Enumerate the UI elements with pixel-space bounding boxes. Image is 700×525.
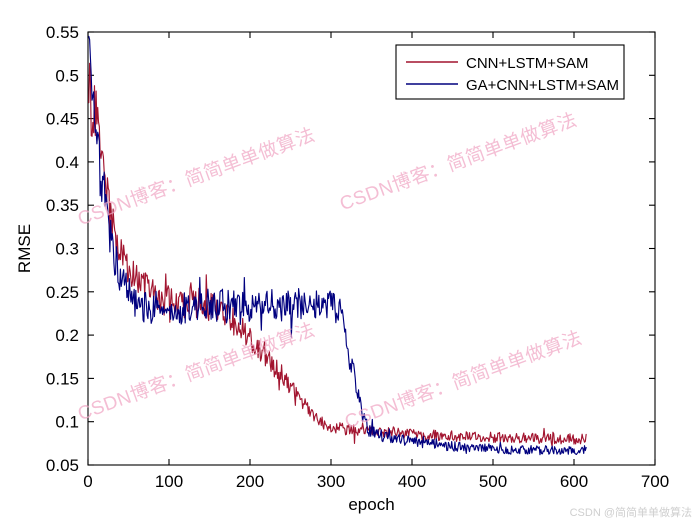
y-tick-label: 0.1 <box>55 413 79 432</box>
y-tick-label: 0.3 <box>55 240 79 259</box>
y-tick-label: 0.5 <box>55 66 79 85</box>
rmse-training-curve-chart: 01002003004005006007000.050.10.150.20.25… <box>0 0 700 525</box>
csdn-credit: CSDN @简简单单做算法 <box>570 504 692 520</box>
y-tick-label: 0.25 <box>46 283 79 302</box>
x-tick-label: 300 <box>317 472 345 491</box>
y-axis-title: RMSE <box>15 224 34 273</box>
y-tick-label: 0.55 <box>46 23 79 42</box>
x-tick-label: 500 <box>479 472 507 491</box>
matlab-figure: 01002003004005006007000.050.10.150.20.25… <box>0 0 700 525</box>
chart-legend[interactable]: CNN+LSTM+SAMGA+CNN+LSTM+SAM <box>396 45 624 99</box>
y-tick-label: 0.15 <box>46 369 79 388</box>
y-tick-label: 0.2 <box>55 326 79 345</box>
legend-label-2: GA+CNN+LSTM+SAM <box>466 77 619 94</box>
y-tick-label: 0.05 <box>46 456 79 475</box>
series-line-1 <box>89 63 586 446</box>
x-axis-title: epoch <box>348 495 394 514</box>
x-tick-label: 200 <box>236 472 264 491</box>
y-tick-label: 0.4 <box>55 153 79 172</box>
y-tick-label: 0.45 <box>46 110 79 129</box>
x-tick-label: 600 <box>560 472 588 491</box>
x-tick-label: 0 <box>83 472 92 491</box>
x-tick-label: 700 <box>641 472 669 491</box>
x-tick-label: 400 <box>398 472 426 491</box>
y-tick-label: 0.35 <box>46 196 79 215</box>
legend-label-1: CNN+LSTM+SAM <box>466 55 589 72</box>
x-tick-label: 100 <box>155 472 183 491</box>
